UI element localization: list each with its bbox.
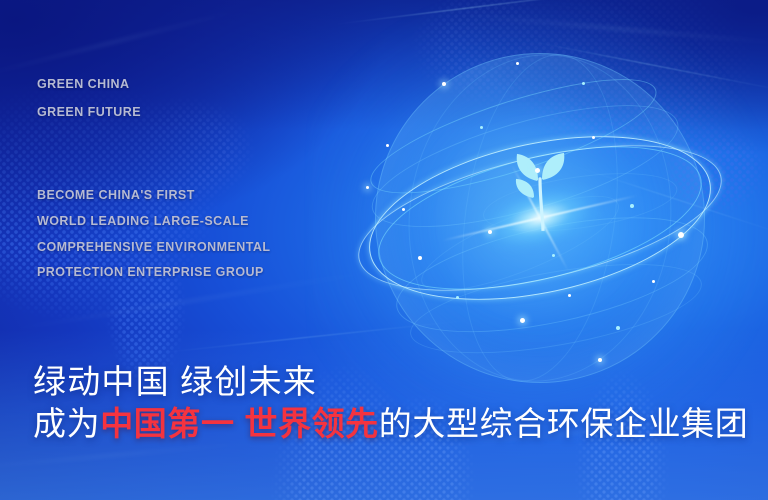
vision-block: BECOME CHINA'S FIRST WORLD LEADING LARGE…: [37, 183, 270, 286]
headline-line-1: 绿动中国 绿创未来: [33, 362, 748, 402]
vision-line-2: WORLD LEADING LARGE-SCALE: [37, 209, 270, 235]
headline-block: 绿动中国 绿创未来 成为中国第一 世界领先的大型综合环保企业集团: [33, 362, 748, 446]
particle: [568, 294, 571, 297]
particle: [456, 296, 459, 299]
headline-line-2: 成为中国第一 世界领先的大型综合环保企业集团: [33, 402, 748, 446]
tagline-line-2: GREEN FUTURE: [37, 98, 141, 126]
particle: [386, 144, 389, 147]
headline-line-2-suffix: 的大型综合环保企业集团: [379, 405, 749, 442]
headline-line-2-highlight: 中国第一 世界领先: [100, 405, 379, 442]
particle: [488, 230, 492, 234]
particle: [442, 82, 446, 86]
particle: [520, 318, 525, 323]
particle: [418, 256, 422, 260]
particle: [592, 136, 595, 139]
particle: [582, 82, 585, 85]
vision-line-4: PROTECTION ENTERPRISE GROUP: [37, 260, 270, 286]
particle: [630, 204, 634, 208]
particle: [366, 186, 369, 189]
globe-graphic: [330, 18, 750, 418]
particle: [480, 126, 483, 129]
particle: [535, 168, 540, 173]
particle: [552, 254, 555, 257]
particle: [616, 326, 620, 330]
vision-line-1: BECOME CHINA'S FIRST: [37, 183, 270, 209]
particle: [652, 280, 655, 283]
particle: [678, 232, 684, 238]
particle: [402, 208, 405, 211]
vision-line-3: COMPREHENSIVE ENVIRONMENTAL: [37, 235, 270, 261]
headline-line-2-prefix: 成为: [33, 405, 100, 442]
particle: [516, 62, 519, 65]
hero-banner: GREEN CHINA GREEN FUTURE BECOME CHINA'S …: [0, 0, 768, 500]
tagline-block: GREEN CHINA GREEN FUTURE: [37, 70, 141, 126]
sprout-icon: [498, 139, 582, 231]
tagline-line-1: GREEN CHINA: [37, 70, 141, 98]
